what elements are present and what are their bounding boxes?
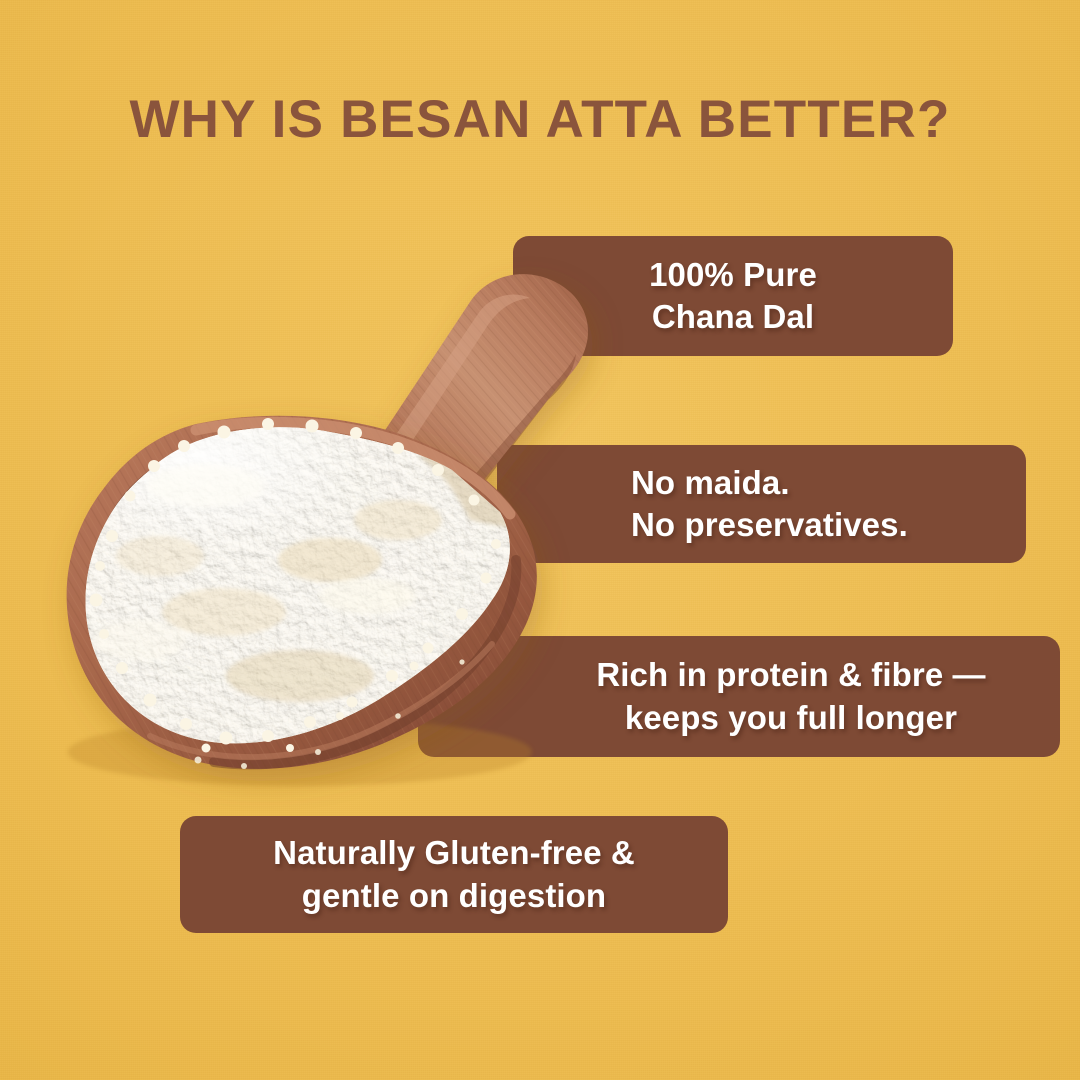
callout-protein-and-fibre: Rich in protein & fibre — keeps you full…: [418, 636, 1060, 757]
callout-4-line-2: gentle on digestion: [206, 875, 702, 917]
callout-pure-chana-dal: 100% Pure Chana Dal: [513, 236, 953, 356]
callout-1-line-1: 100% Pure: [539, 254, 927, 296]
callout-2-line-2: No preservatives.: [631, 504, 1000, 546]
page-title: WHY IS BESAN ATTA BETTER?: [0, 92, 1080, 148]
callout-2-line-1: No maida.: [631, 462, 1000, 504]
callout-no-maida-no-preservatives: No maida. No preservatives.: [497, 445, 1026, 563]
poster-canvas: WHY IS BESAN ATTA BETTER? 100% Pure Chan…: [0, 0, 1080, 1080]
callout-gluten-free-digestion: Naturally Gluten-free & gentle on digest…: [180, 816, 728, 933]
callout-3-line-1: Rich in protein & fibre —: [548, 654, 1034, 696]
callout-1-line-2: Chana Dal: [539, 296, 927, 338]
callout-4-line-1: Naturally Gluten-free &: [206, 832, 702, 874]
callout-3-line-2: keeps you full longer: [548, 697, 1034, 739]
